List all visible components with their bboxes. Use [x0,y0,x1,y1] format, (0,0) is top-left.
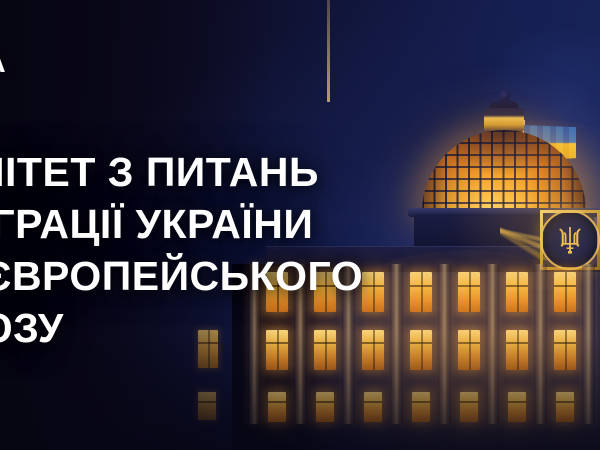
illuminated-window [554,272,576,312]
emblem-gold-ring [540,210,600,270]
headline-overlay: ОМІТЕТ З ПИТАНЬ ТЕГРАЦІЇ УКРАЇНИ О ЄВРОП… [0,146,538,354]
dome-lantern [484,108,524,132]
illuminated-window [364,392,382,422]
illuminated-window [508,392,526,422]
hero-image: A ОМІТЕТ З ПИТАНЬ ТЕГРАЦІЇ УКРАЇНИ О ЄВР… [0,0,600,450]
illuminated-window [198,392,216,420]
facade-pilaster [582,264,595,424]
headline-line-4: ОЮЗУ [0,302,538,354]
illuminated-window [554,330,576,370]
headline-line-2: ТЕГРАЦІЇ УКРАЇНИ [0,198,538,250]
dome-spire [327,0,330,102]
illuminated-window [556,392,574,422]
ukrainian-trident-emblem [540,210,600,270]
site-logo[interactable]: A [0,46,7,80]
illuminated-window [316,392,334,422]
headline-line-3: О ЄВРОПЕЙСЬКОГО [0,250,538,302]
headline-line-1: ОМІТЕТ З ПИТАНЬ [0,146,538,198]
illuminated-window [460,392,478,422]
illuminated-window [412,392,430,422]
illuminated-window [268,392,286,422]
